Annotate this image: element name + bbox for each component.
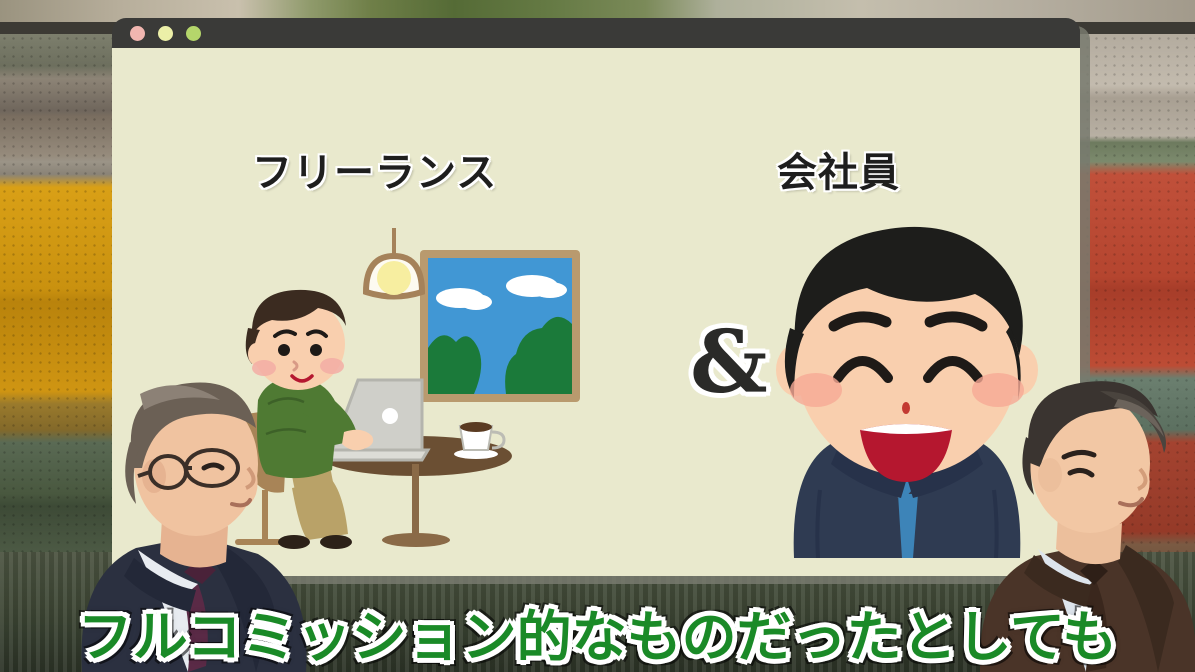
slide-label-employee: 会社員 (777, 140, 900, 198)
slide-label-freelance: フリーランス (252, 140, 497, 198)
window-title-bar[interactable] (112, 18, 1080, 48)
video-frame: フリーランス 会社員 & (0, 0, 1195, 672)
maximize-icon[interactable] (186, 26, 201, 41)
close-icon[interactable] (130, 26, 145, 41)
subtitle-caption: フルコミッション的なものだったとしても (0, 592, 1195, 672)
minimize-icon[interactable] (158, 26, 173, 41)
